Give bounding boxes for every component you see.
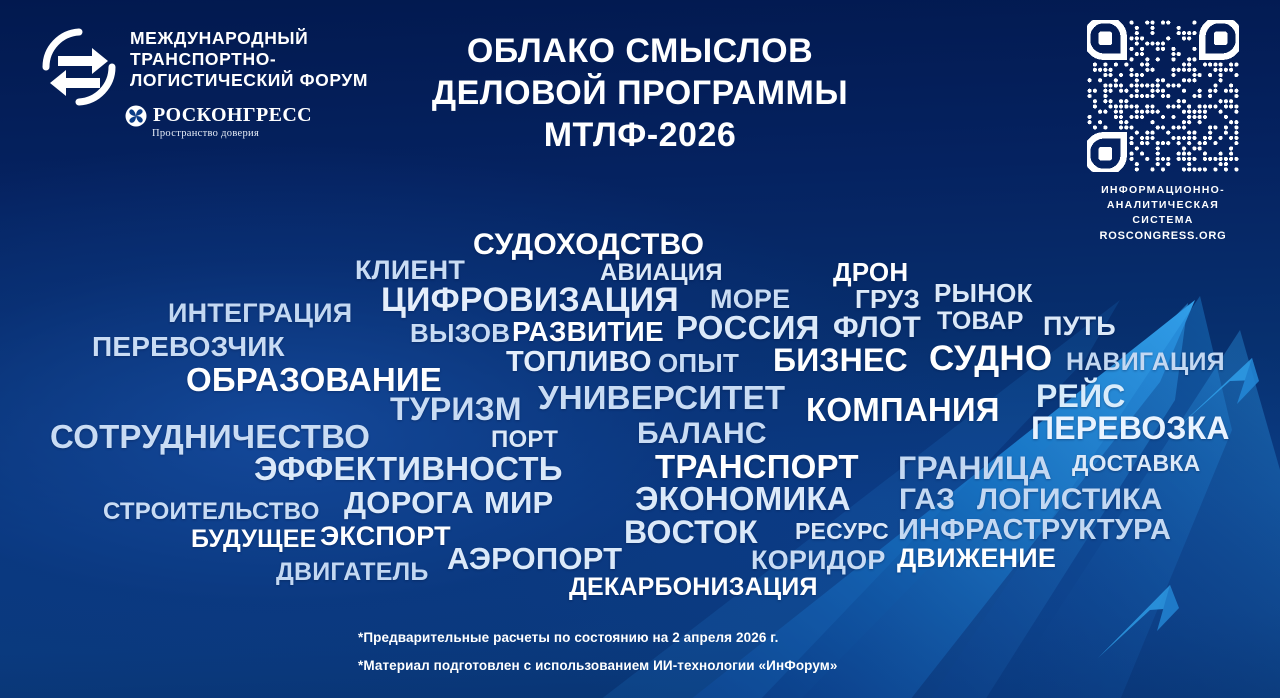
cloud-word: ПУТЬ [1043, 313, 1116, 340]
cloud-word: БАЛАНС [637, 419, 767, 449]
title-line1: ОБЛАКО СМЫСЛОВ [380, 30, 900, 72]
cloud-word: ДРОН [833, 259, 908, 285]
cloud-word: РАЗВИТИЕ [512, 318, 664, 346]
cloud-word: РОССИЯ [676, 311, 820, 344]
cloud-word: ЭКСПОРТ [320, 523, 451, 550]
cloud-word: ДОСТАВКА [1072, 452, 1200, 475]
cloud-word: ЭКОНОМИКА [635, 482, 851, 515]
cloud-word: ДОРОГА [344, 487, 474, 518]
cloud-word: АЭРОПОРТ [447, 543, 622, 574]
roscongress-tagline: Пространство доверия [152, 128, 259, 139]
cloud-word: ДВИЖЕНИЕ [897, 545, 1056, 572]
cloud-word: СТРОИТЕЛЬСТВО [103, 500, 320, 524]
cloud-word: ПЕРЕВОЗЧИК [92, 333, 285, 361]
roscongress-name: РОСКОНГРЕСС [153, 104, 312, 127]
title-line2: ДЕЛОВОЙ ПРОГРАММЫ [380, 72, 900, 114]
cloud-word: СУДОХОДСТВО [473, 230, 704, 260]
footnote-2: *Материал подготовлен с использованием И… [358, 652, 1158, 680]
cloud-word: БИЗНЕС [773, 344, 908, 376]
forum-logo: МЕЖДУНАРОДНЫЙ ТРАНСПОРТНО- ЛОГИСТИЧЕСКИЙ… [30, 22, 430, 152]
poster-header: МЕЖДУНАРОДНЫЙ ТРАНСПОРТНО- ЛОГИСТИЧЕСКИЙ… [0, 0, 1280, 190]
cloud-word: ВОСТОК [624, 516, 758, 548]
cloud-word: ЛОГИСТИКА [977, 485, 1163, 515]
cloud-word: ДВИГАТЕЛЬ [276, 560, 429, 585]
cloud-word: КОРИДОР [751, 547, 886, 574]
cloud-word: ПОРТ [491, 428, 558, 452]
cloud-word: ИНТЕГРАЦИЯ [168, 300, 352, 327]
cloud-word: НАВИГАЦИЯ [1066, 350, 1225, 375]
cloud-word: СОТРУДНИЧЕСТВО [50, 420, 370, 453]
cloud-word: ТОВАР [937, 309, 1024, 334]
cloud-word: РЫНОК [934, 280, 1033, 306]
qr-code-icon[interactable] [1068, 20, 1258, 177]
cloud-word: ВЫЗОВ [410, 320, 510, 346]
cloud-word: БУДУЩЕЕ [191, 527, 317, 552]
cloud-word: ПЕРЕВОЗКА [1031, 412, 1230, 444]
cloud-word: ЦИФРОВИЗАЦИЯ [381, 283, 679, 317]
roscongress-logo: РОСКОНГРЕСС [125, 104, 312, 127]
cloud-word: ЭФФЕКТИВНОСТЬ [254, 452, 563, 485]
footnote-1: *Предварительные расчеты по состоянию на… [358, 624, 1158, 652]
cloud-word: ТУРИЗМ [390, 393, 522, 425]
cloud-word: КОМПАНИЯ [806, 393, 1000, 426]
cloud-word: ТРАНСПОРТ [655, 450, 859, 483]
page-title: ОБЛАКО СМЫСЛОВ ДЕЛОВОЙ ПРОГРАММЫ МТЛФ-20… [380, 30, 900, 156]
roscongress-logo-icon [125, 105, 147, 127]
cloud-word: ГРУЗ [855, 286, 920, 312]
cloud-word: ФЛОТ [833, 313, 921, 343]
qr-caption-line1: ИНФОРМАЦИОННО- [1068, 183, 1258, 198]
cloud-word: ГАЗ [899, 485, 955, 515]
cloud-word: УНИВЕРСИТЕТ [538, 381, 785, 414]
cloud-word: ТОПЛИВО [506, 348, 652, 377]
cloud-word: МИР [484, 487, 553, 518]
cloud-word: КЛИЕНТ [355, 257, 465, 284]
word-cloud: СУДОХОДСТВОКЛИЕНТАВИАЦИЯДРОНЦИФРОВИЗАЦИЯ… [0, 200, 1280, 600]
footnotes: *Предварительные расчеты по состоянию на… [358, 624, 1158, 680]
title-line3: МТЛФ-2026 [380, 114, 900, 156]
transport-forum-logo-icon [38, 26, 120, 108]
cloud-word: ОПЫТ [658, 350, 739, 376]
cloud-word: РЕСУРС [795, 520, 889, 543]
cloud-word: ИНФРАСТРУКТУРА [898, 516, 1171, 545]
cloud-word: ГРАНИЦА [898, 452, 1052, 484]
cloud-word: СУДНО [929, 341, 1052, 376]
cloud-word: РЕЙС [1036, 380, 1126, 412]
poster-canvas: МЕЖДУНАРОДНЫЙ ТРАНСПОРТНО- ЛОГИСТИЧЕСКИЙ… [0, 0, 1280, 698]
cloud-word: ДЕКАРБОНИЗАЦИЯ [569, 575, 818, 600]
